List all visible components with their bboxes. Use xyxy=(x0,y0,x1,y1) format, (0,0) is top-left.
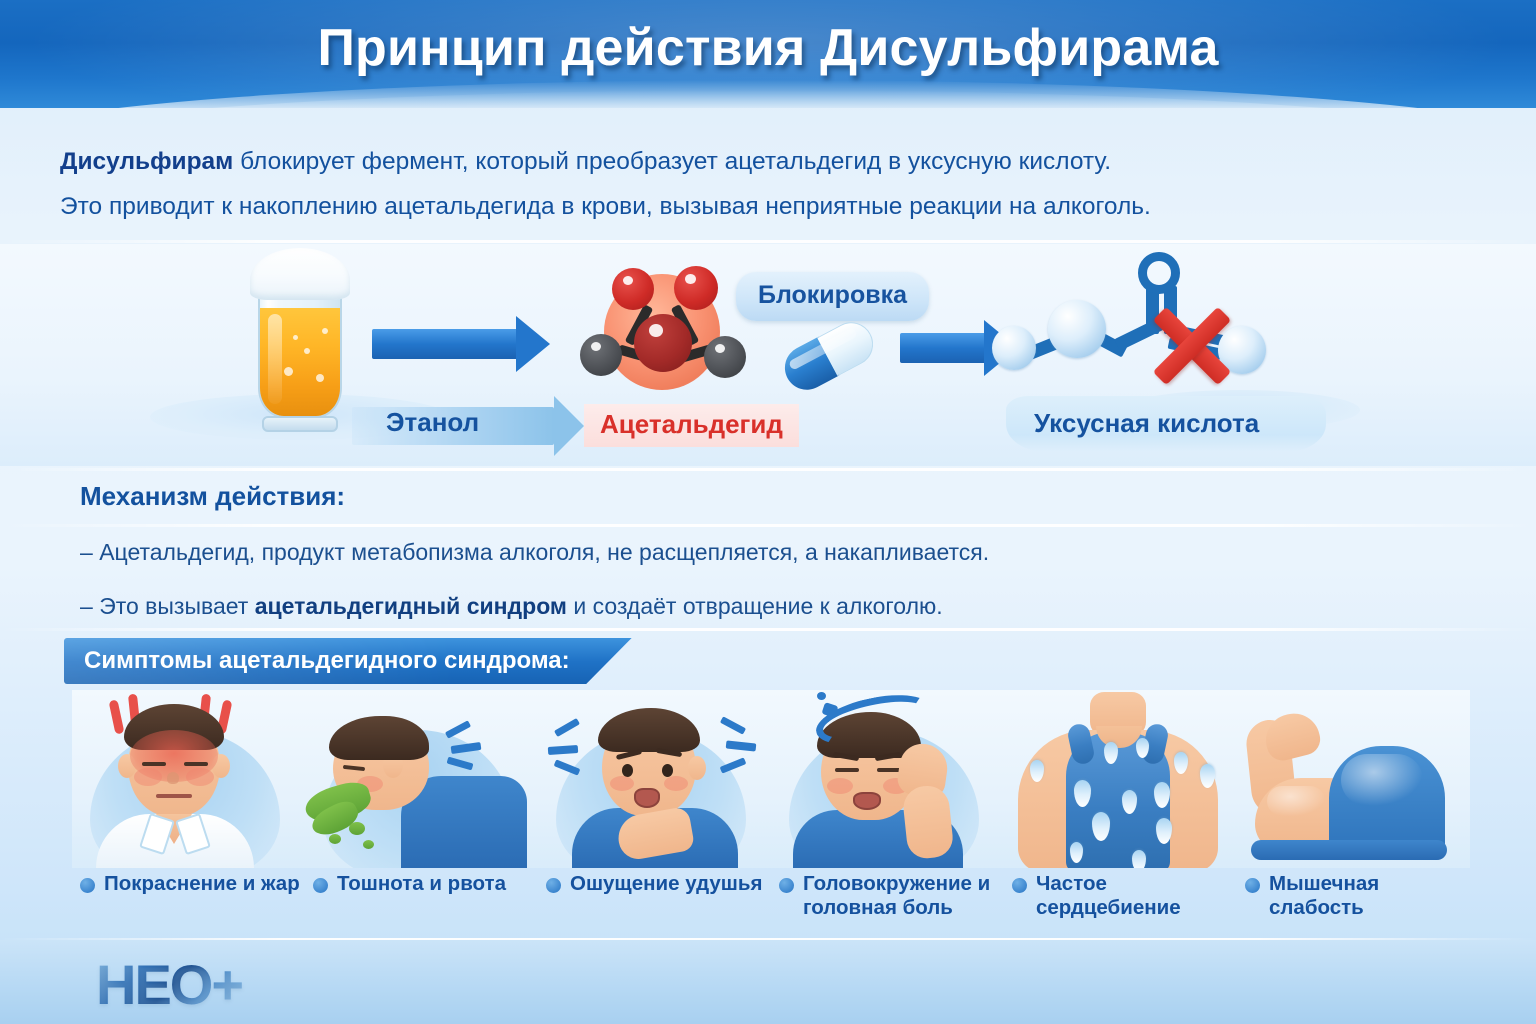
symptom-art-flexed-arm xyxy=(1237,690,1470,868)
atom-oxygen-right xyxy=(674,266,718,310)
atom-carbon xyxy=(634,314,692,372)
acid-atom-1 xyxy=(992,326,1036,370)
bullet-dot-icon xyxy=(80,878,95,893)
symptom-text-palpitations: Частое сердцебиение xyxy=(1036,872,1237,920)
intro-drug-name: Дисульфирам xyxy=(60,148,233,175)
symptom-card-vomiting: Тошнота и рвота xyxy=(305,690,538,940)
brand-logo: НЕО+ xyxy=(96,952,242,1017)
symptom-label-dizzy: Головокружение и головная боль xyxy=(779,872,1004,920)
symptom-label-palpitations: Частое сердцебиение xyxy=(1012,872,1237,920)
symptom-text-dizzy: Головокружение и головная боль xyxy=(803,872,1004,920)
mechanism-item-1: – Ацетальдегид, продукт метабопизма алко… xyxy=(80,538,1340,568)
symptom-text-weakness: Мышечная слабость xyxy=(1269,872,1470,920)
intro-line-2: Это приводит к накоплению ацетальдегида … xyxy=(60,191,1360,222)
mechanism-item-1-text: Ацетальдегид, продукт метабопизма алкого… xyxy=(99,539,989,565)
acid-double-bond-oxygen xyxy=(1138,252,1180,294)
symptom-art-vomiting-man xyxy=(305,690,538,868)
infographic-page: Принцип действия Дисульфирама Дисульфира… xyxy=(0,0,1536,1024)
atom-oxygen-left xyxy=(612,268,654,310)
label-acetaldehyde: Ацетальдегид xyxy=(584,404,799,447)
intro-line-1-rest: блокирует фермент, который преобразует а… xyxy=(233,148,1111,175)
symptom-label-flushed: Покраснение и жар xyxy=(80,872,305,896)
divider-mechanism-top xyxy=(0,468,1536,471)
acetaldehyde-molecule-icon xyxy=(568,258,758,408)
blocked-x-icon xyxy=(1146,300,1238,392)
mechanism-item-1-prefix: – xyxy=(80,539,99,565)
symptom-label-vomiting: Тошнота и рвота xyxy=(313,872,538,896)
mechanism-item-2-post: и создаёт отвращение к алкоголю. xyxy=(567,593,943,619)
blocking-badge: Блокировка xyxy=(736,272,929,321)
symptom-label-weakness: Мышечная слабость xyxy=(1245,872,1470,920)
mechanism-item-2-prefix: – xyxy=(80,593,99,619)
acid-atom-2 xyxy=(1048,300,1106,358)
bullet-dot-icon xyxy=(1245,878,1260,893)
label-ethanol: Этанол xyxy=(386,407,479,438)
atom-hydrogen-right xyxy=(704,336,746,378)
intro-line-1: Дисульфирам блокирует фермент, который п… xyxy=(60,146,1360,177)
mechanism-item-2-bold: ацетальдегидный синдром xyxy=(255,593,567,619)
acetic-acid-molecule-icon xyxy=(986,264,1276,404)
symptom-art-choking-man xyxy=(538,690,771,868)
header-bar: Принцип действия Дисульфирама xyxy=(0,0,1536,108)
beer-liquid xyxy=(260,308,340,416)
mechanism-title: Механизм действия: xyxy=(80,481,345,512)
divider-top xyxy=(0,240,1536,243)
beer-foam xyxy=(250,248,350,300)
beer-glass-icon xyxy=(252,256,348,432)
symptom-card-palpitations: Частое сердцебиение xyxy=(1004,690,1237,940)
symptom-label-choking: Ошущение удушья xyxy=(546,872,771,896)
symptom-art-flushed-face xyxy=(72,690,305,868)
symptom-card-weakness: Мышечная слабость xyxy=(1237,690,1470,940)
intro-block: Дисульфирам блокирует фермент, который п… xyxy=(60,146,1360,237)
divider-mechanism-mid xyxy=(0,524,1536,527)
symptoms-banner: Симптомы ацетальдегидного синдрома: xyxy=(64,638,632,684)
mechanism-item-2: – Это вызывает ацетальдегидный синдром и… xyxy=(80,592,1340,622)
label-acetic-acid: Уксусная кислота xyxy=(1034,408,1259,439)
symptom-text-flushed: Покраснение и жар xyxy=(104,872,300,896)
bullet-dot-icon xyxy=(1012,878,1027,893)
symptoms-row: Покраснение и жар xyxy=(72,690,1472,940)
symptom-card-choking: Ошущение удушья xyxy=(538,690,771,940)
page-title: Принцип действия Дисульфирама xyxy=(0,18,1536,78)
arrow-ethanol-to-acetaldehyde xyxy=(372,316,550,372)
atom-hydrogen-left xyxy=(580,334,622,376)
symptom-card-flushed: Покраснение и жар xyxy=(72,690,305,940)
divider-symptoms-top xyxy=(0,628,1536,631)
bullet-dot-icon xyxy=(779,878,794,893)
symptom-text-choking: Ошущение удушья xyxy=(570,872,762,896)
symptom-art-dizzy-man xyxy=(771,690,1004,868)
beer-glass-base xyxy=(262,416,338,432)
symptom-art-sweating-torso xyxy=(1004,690,1237,868)
symptom-text-vomiting: Тошнота и рвота xyxy=(337,872,506,896)
bullet-dot-icon xyxy=(313,878,328,893)
bullet-dot-icon xyxy=(546,878,561,893)
symptom-card-dizzy: Головокружение и головная боль xyxy=(771,690,1004,940)
mechanism-item-2-pre: Это вызывает xyxy=(99,593,255,619)
